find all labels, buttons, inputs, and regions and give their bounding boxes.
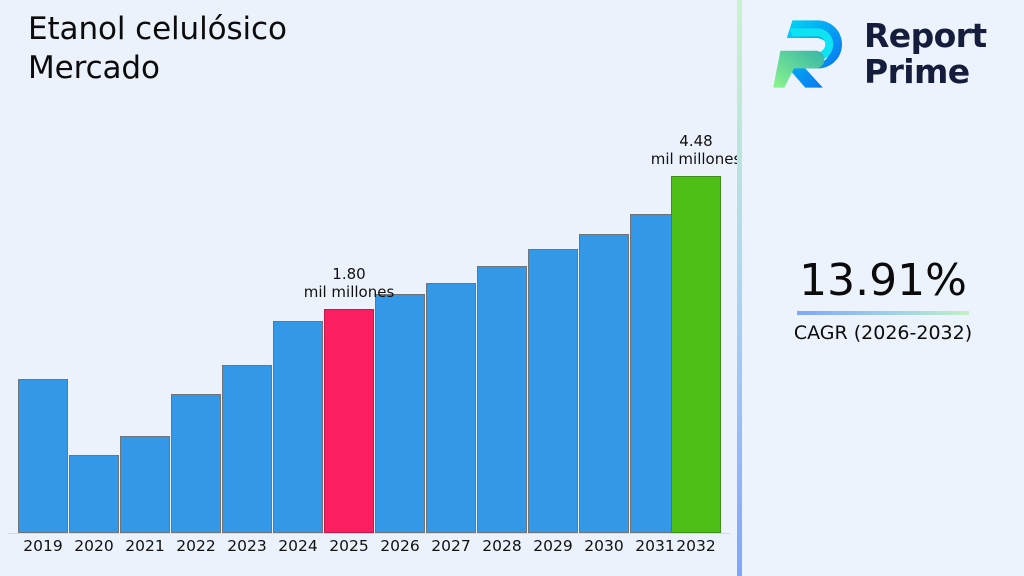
- bar-2028: [477, 266, 527, 533]
- bar-2030: [579, 234, 629, 533]
- bar-2019: [18, 379, 68, 533]
- logo-wordmark: Report Prime: [864, 18, 987, 90]
- bar-2025: [324, 309, 374, 533]
- cagr-value: 13.91%: [742, 255, 1024, 307]
- cagr-block: 13.91% CAGR (2026-2032): [742, 255, 1024, 346]
- bar-2029: [528, 249, 578, 533]
- brand-panel: Report Prime 13.91% CAGR (2026-2032): [742, 0, 1024, 576]
- cagr-divider-rule: [797, 311, 969, 315]
- bar-chart-plot: 2019202020212022202320242025202620272028…: [0, 0, 739, 576]
- cagr-caption: CAGR (2026-2032): [742, 321, 1024, 346]
- report-prime-r-mark: [770, 14, 850, 94]
- bar-2022: [171, 394, 221, 533]
- bar-2024: [273, 321, 323, 533]
- bar-2027: [426, 283, 476, 533]
- report-prime-logo: Report Prime: [770, 12, 1002, 96]
- bar-2021: [120, 436, 170, 533]
- bar-2020: [69, 455, 119, 533]
- x-tick-2032: 2032: [665, 536, 727, 556]
- bar-2023: [222, 365, 272, 533]
- chart-panel: Etanol celulósico Mercado 20192020202120…: [0, 0, 739, 576]
- bar-2026: [375, 294, 425, 533]
- bar-2032: [671, 176, 721, 533]
- x-axis-baseline: [8, 533, 730, 534]
- infographic-root: Etanol celulósico Mercado 20192020202120…: [0, 0, 1024, 576]
